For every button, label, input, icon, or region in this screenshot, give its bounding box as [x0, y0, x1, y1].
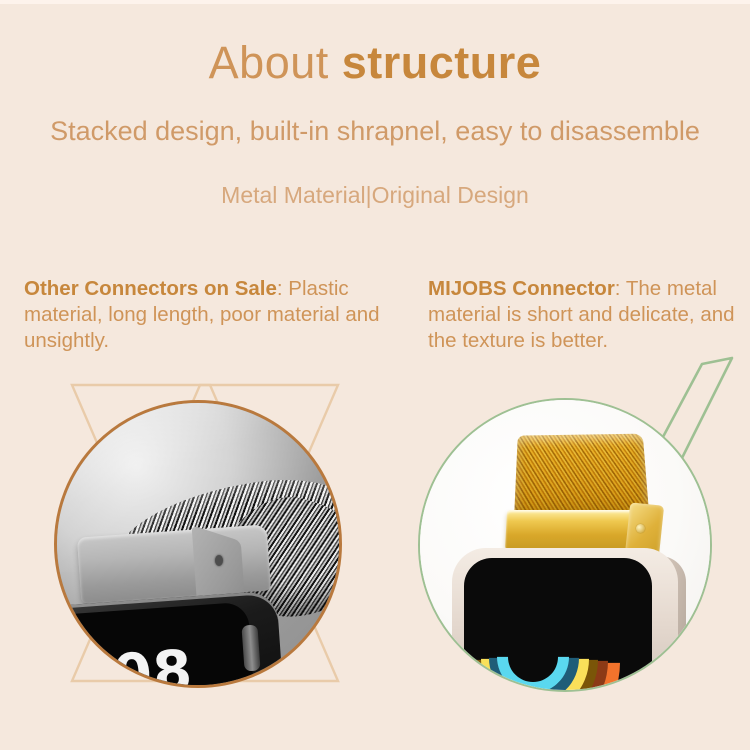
top-edge-strip	[0, 0, 750, 4]
photo-left-circle: 08	[54, 400, 342, 688]
page-title-bold: structure	[342, 37, 542, 88]
page-title: About structure	[0, 36, 750, 90]
watch-side-button-left	[241, 624, 260, 671]
caption-right: MIJOBS Connector: The metal material is …	[428, 276, 744, 354]
photo-right-circle: 08 16	[418, 398, 712, 692]
tagline: Metal Material|Original Design	[0, 180, 750, 210]
subtitle: Stacked design, built-in shrapnel, easy …	[0, 114, 750, 148]
photo-left-content: 08	[57, 403, 339, 685]
connector-pin	[215, 555, 223, 566]
watch-time-left: 08	[111, 638, 195, 688]
watch-screen-right: 08 16	[464, 558, 652, 692]
caption-left-heading: Other Connectors on Sale	[24, 277, 277, 300]
caption-left: Other Connectors on Sale: Plastic materi…	[24, 276, 394, 354]
caption-right-heading: MIJOBS Connector	[428, 277, 615, 300]
page-title-light: About	[209, 37, 342, 88]
gold-connector-screw	[636, 524, 645, 533]
gold-mesh-taper	[524, 430, 640, 460]
product-infographic: About structure Stacked design, built-in…	[0, 0, 750, 750]
photo-right-content: 08 16	[420, 400, 710, 690]
caption-right-separator: :	[615, 277, 626, 300]
caption-left-separator: :	[277, 277, 288, 300]
